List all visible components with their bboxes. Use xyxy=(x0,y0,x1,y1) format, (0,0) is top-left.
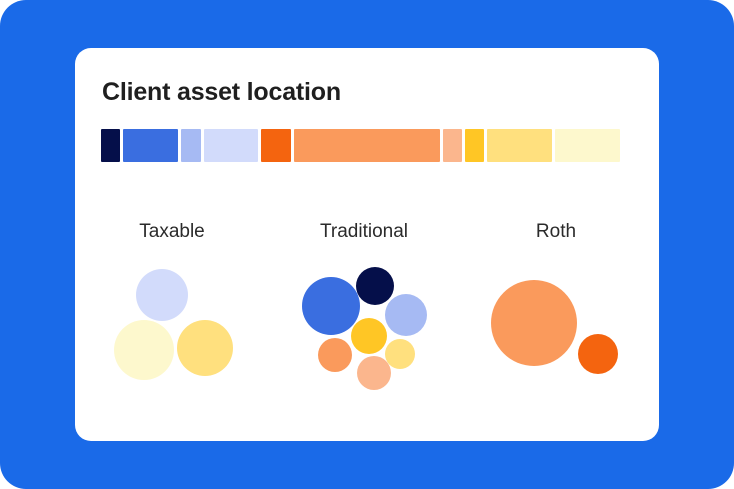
traditional-bubble-periwinkle[interactable] xyxy=(385,294,427,336)
asset-location-card: Client asset location TaxableTraditional… xyxy=(75,48,659,441)
traditional-bubble-navy[interactable] xyxy=(356,267,394,305)
taxable-bubble-gold[interactable] xyxy=(177,320,233,376)
taxable-bubble-light-blue[interactable] xyxy=(136,269,188,321)
roth-bubble-orange[interactable] xyxy=(578,334,618,374)
asset-bubble-groups: TaxableTraditionalRoth xyxy=(75,48,659,441)
roth-bubble-light-orange[interactable] xyxy=(491,280,577,366)
traditional-bubble-light-yellow[interactable] xyxy=(385,339,415,369)
taxable-bubble-pale-yellow[interactable] xyxy=(114,320,174,380)
traditional-bubble-orange[interactable] xyxy=(318,338,352,372)
screenshot-root: Client asset location TaxableTraditional… xyxy=(0,0,734,489)
group-label-taxable: Taxable xyxy=(139,221,205,243)
traditional-bubble-gold[interactable] xyxy=(351,318,387,354)
traditional-bubble-blue[interactable] xyxy=(302,277,360,335)
group-label-roth: Roth xyxy=(536,221,576,243)
group-label-traditional: Traditional xyxy=(320,221,408,243)
traditional-bubble-peach[interactable] xyxy=(357,356,391,390)
